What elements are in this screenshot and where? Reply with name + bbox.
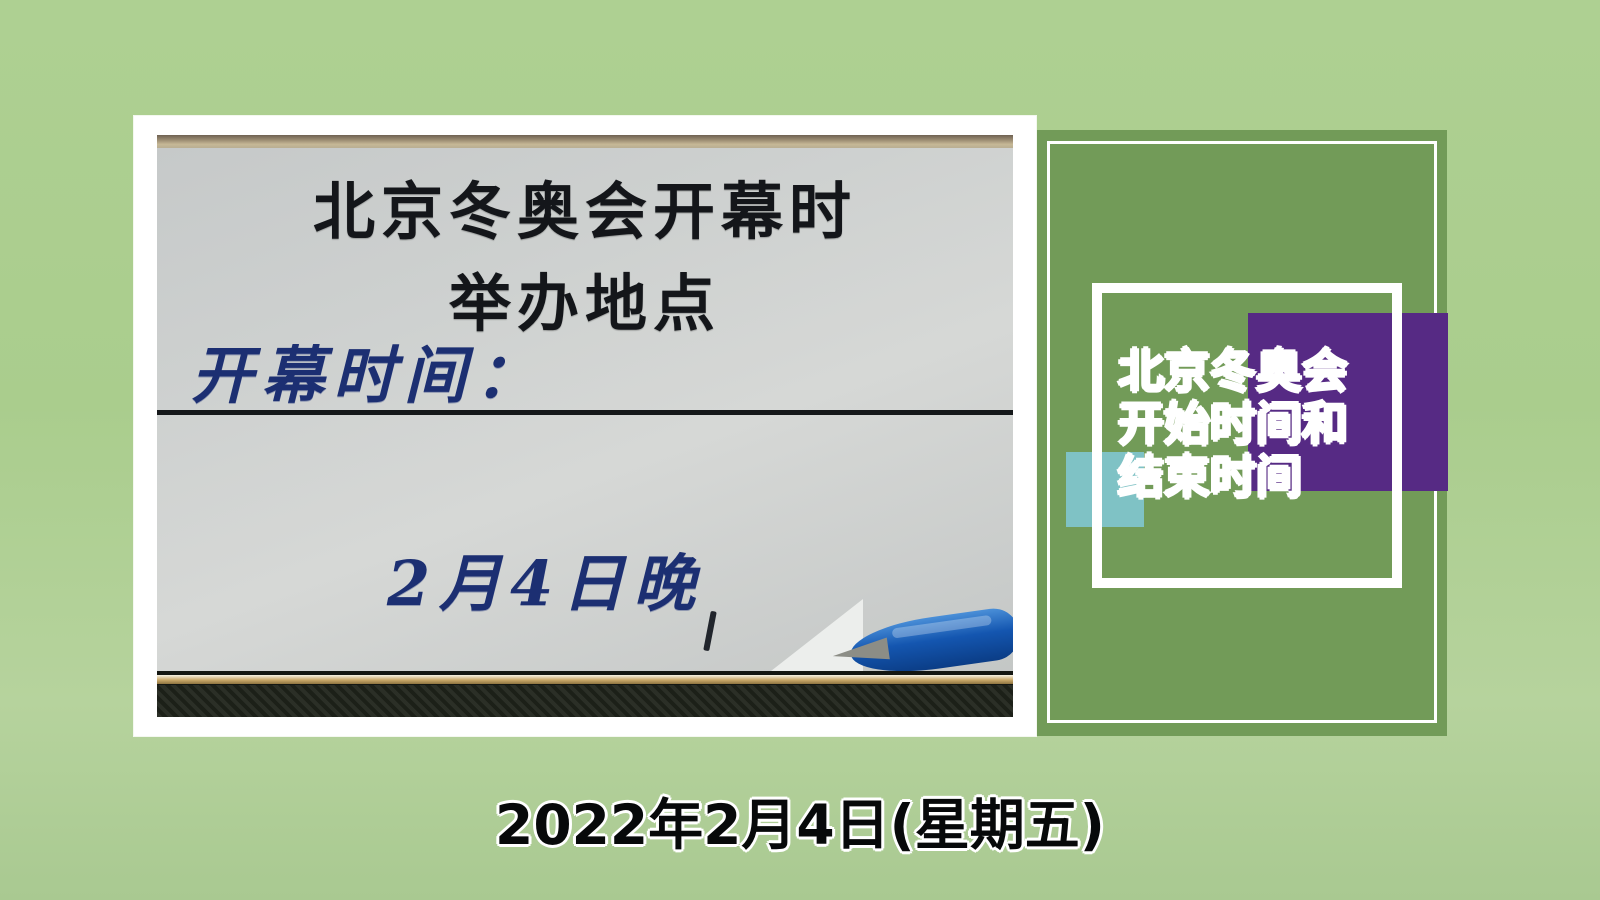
whiteboard-photo-card: 北京冬奥会开幕时 举办地点 开幕时间： 2月4日晚: [134, 116, 1036, 736]
whiteboard-bottom-rail: [157, 671, 1013, 717]
whiteboard-handwritten-line-2: 2月4日晚: [387, 533, 704, 623]
caption-date: 2022年2月4日(星期五): [0, 780, 1600, 860]
whiteboard-top-rail: [157, 135, 1013, 148]
whiteboard-photo-image: 北京冬奥会开幕时 举办地点 开幕时间： 2月4日晚: [157, 135, 1013, 717]
whiteboard-handwritten-line-1: 开幕时间：: [191, 325, 546, 415]
video-thumbnail-stage: 北京冬奥会开幕时 举办地点 开幕时间： 2月4日晚 北京冬奥会 开始时间和 结束…: [0, 0, 1600, 900]
whiteboard-horizontal-rule: [157, 410, 1013, 415]
panel-title: 北京冬奥会 开始时间和 结束时间: [1118, 345, 1418, 504]
whiteboard-printed-line-1: 北京冬奥会开幕时: [157, 161, 1013, 251]
